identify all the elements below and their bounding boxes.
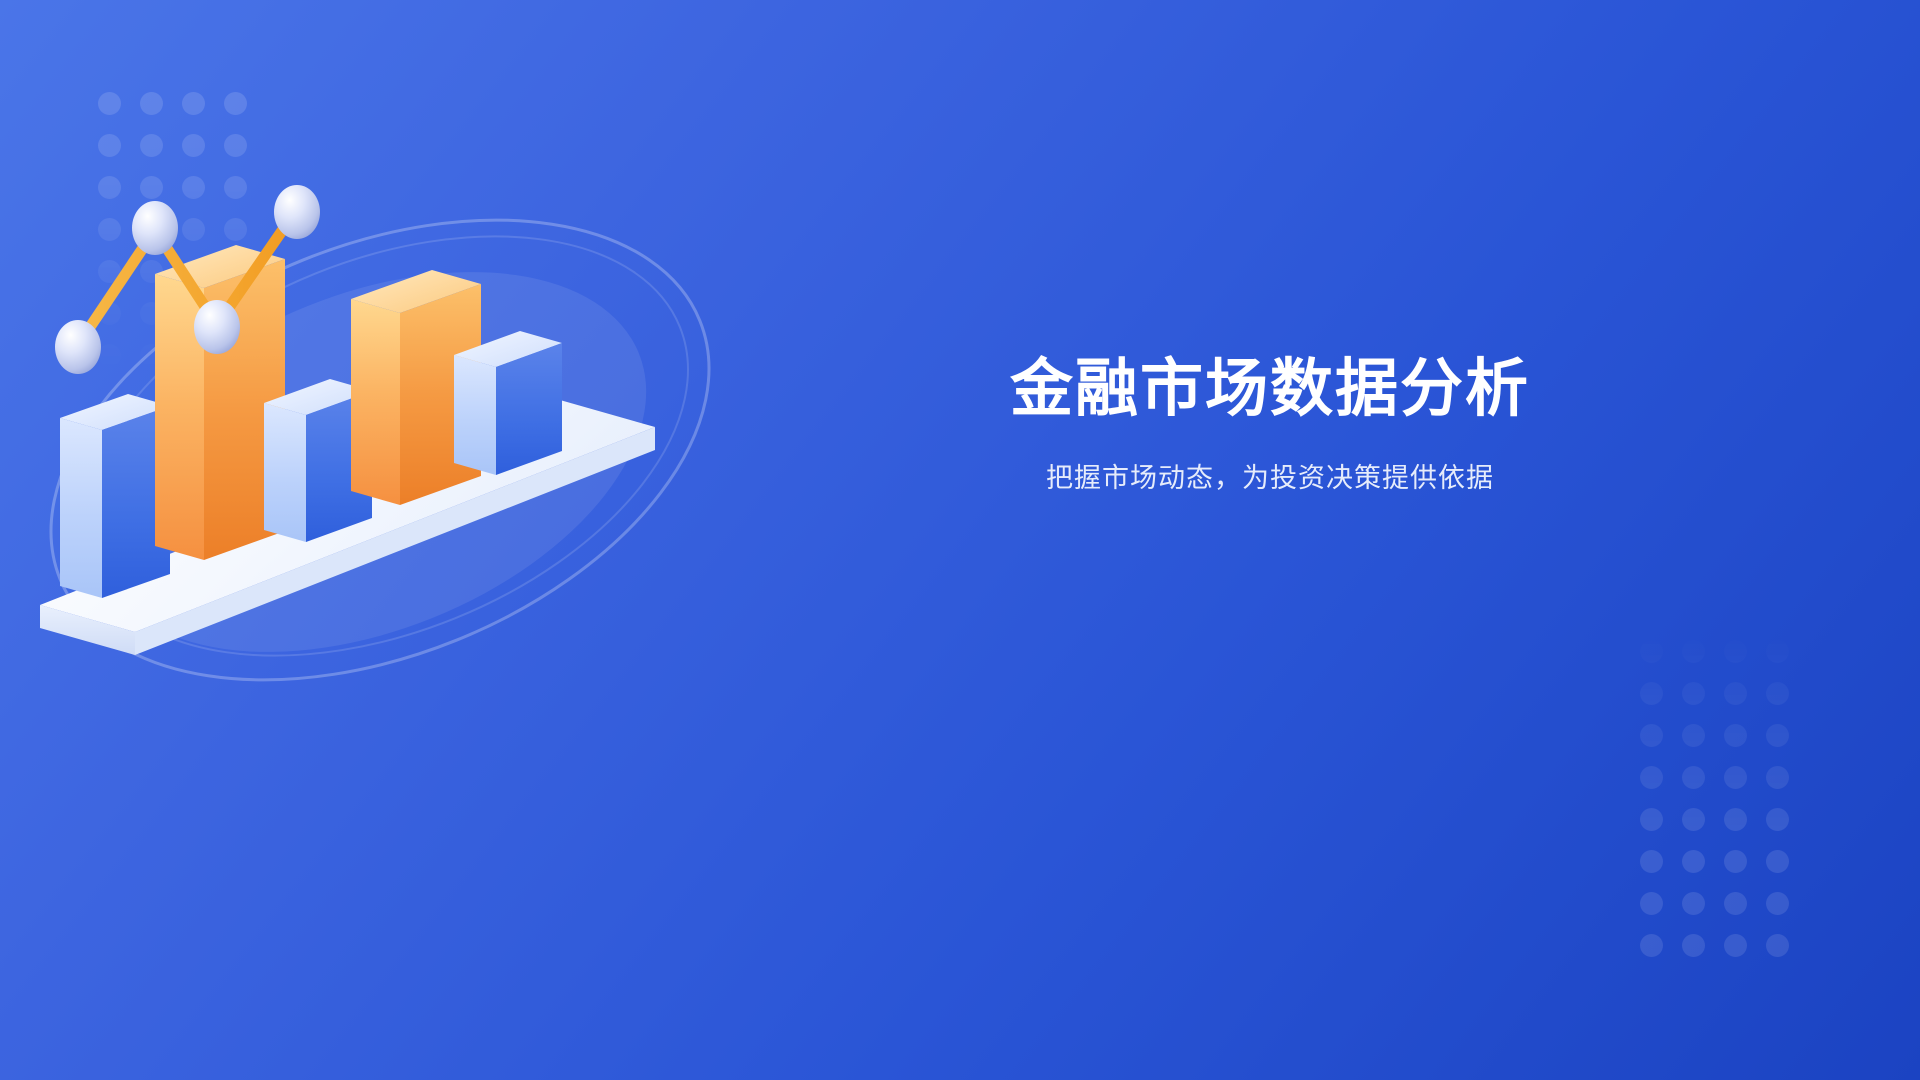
- decorative-dot: [1756, 714, 1798, 756]
- data-node: [55, 320, 101, 374]
- decorative-dot: [1672, 756, 1714, 798]
- data-node: [194, 300, 240, 354]
- decorative-dot: [1714, 840, 1756, 882]
- decorative-dot: [1756, 840, 1798, 882]
- decorative-dot: [1672, 840, 1714, 882]
- decorative-dot: [130, 82, 172, 124]
- decorative-dot: [88, 82, 130, 124]
- decorative-dot: [1714, 714, 1756, 756]
- chart-illustration: [0, 150, 800, 770]
- decorative-dot: [1630, 798, 1672, 840]
- decorative-dot: [1714, 882, 1756, 924]
- dot-grid-bottom-right: [1630, 630, 1798, 966]
- data-node: [274, 185, 320, 239]
- decorative-dot: [1672, 924, 1714, 966]
- decorative-dot: [1756, 882, 1798, 924]
- decorative-dot: [1714, 924, 1756, 966]
- page-subtitle: 把握市场动态，为投资决策提供依据: [875, 460, 1665, 498]
- decorative-dot: [1756, 630, 1798, 672]
- decorative-dot: [1672, 798, 1714, 840]
- decorative-dot: [1756, 756, 1798, 798]
- decorative-dot: [1672, 630, 1714, 672]
- decorative-dot: [1672, 714, 1714, 756]
- decorative-dot: [1630, 714, 1672, 756]
- decorative-dot: [1630, 630, 1672, 672]
- decorative-dot: [1630, 672, 1672, 714]
- decorative-dot: [1756, 672, 1798, 714]
- decorative-dot: [1630, 756, 1672, 798]
- page-title: 金融市场数据分析: [875, 352, 1665, 426]
- decorative-dot: [1756, 798, 1798, 840]
- bar-5-blue: [454, 331, 562, 475]
- decorative-dot: [1630, 924, 1672, 966]
- title-block: 金融市场数据分析 把握市场动态，为投资决策提供依据: [875, 352, 1665, 498]
- decorative-dot: [1672, 882, 1714, 924]
- decorative-dot: [1714, 672, 1756, 714]
- bar-1-blue: [60, 394, 170, 598]
- decorative-dot: [172, 82, 214, 124]
- slide-canvas: 金融市场数据分析 把握市场动态，为投资决策提供依据: [0, 0, 1920, 1080]
- decorative-dot: [1672, 672, 1714, 714]
- decorative-dot: [1756, 924, 1798, 966]
- decorative-dot: [1714, 756, 1756, 798]
- decorative-dot: [1630, 882, 1672, 924]
- decorative-dot: [214, 82, 256, 124]
- decorative-dot: [1630, 840, 1672, 882]
- decorative-dot: [1714, 798, 1756, 840]
- data-node: [132, 201, 178, 255]
- decorative-dot: [1714, 630, 1756, 672]
